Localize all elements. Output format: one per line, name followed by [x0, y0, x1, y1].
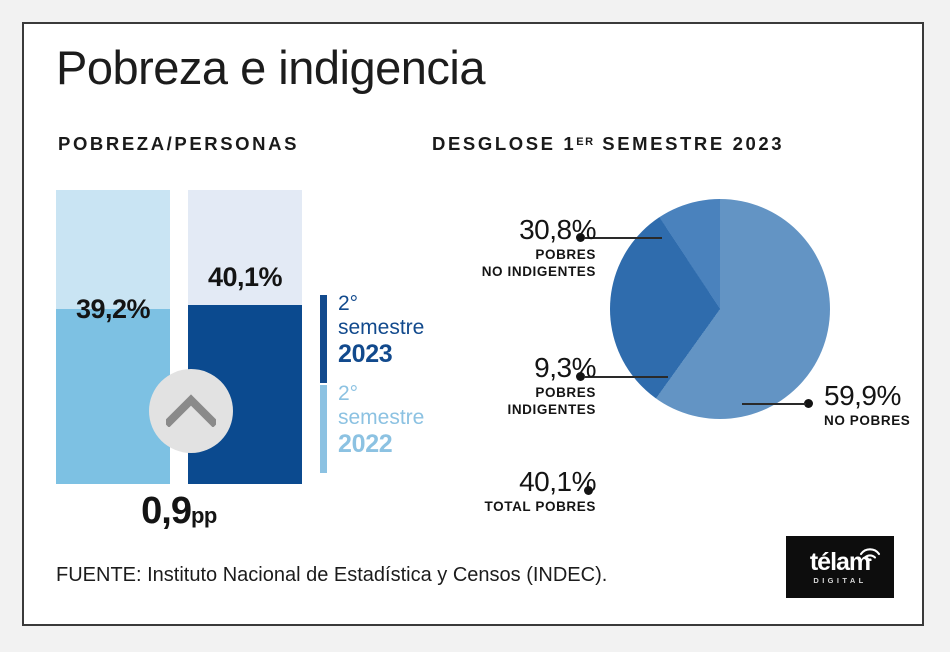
callout-no-pobres: 59,9% NO POBRES	[824, 380, 950, 429]
bar-legend: 2° semestre 2023 2° semestre 2022	[320, 292, 424, 473]
pobres-indigentes-label-1: POBRES	[464, 384, 596, 401]
desglose-heading-ordinal: ER	[576, 136, 594, 148]
bar-2022-ghost	[56, 190, 170, 309]
pobres-no-indigentes-pct: 30,8%	[464, 214, 596, 246]
legend-rule-2023	[320, 295, 327, 383]
callout-pobres-indigentes: 9,3% POBRES INDIGENTES	[464, 352, 596, 419]
legend-2022-year: 2022	[338, 430, 424, 459]
chevron-up-icon	[166, 393, 216, 427]
legend-2022-line2: semestre	[338, 406, 424, 430]
infographic-card: Pobreza e indigencia POBREZA/PERSONAS DE…	[22, 22, 924, 626]
total-pobres-pct: 40,1%	[464, 466, 596, 498]
bar-2022	[56, 190, 170, 484]
bar-2022-value: 39,2%	[56, 294, 170, 325]
legend-2023-line2: semestre	[338, 316, 424, 340]
telam-subtitle: DIGITAL	[786, 576, 894, 585]
pie-chart	[610, 199, 830, 419]
legend-2022-line1: 2°	[338, 382, 424, 406]
telam-logo: télam DIGITAL	[786, 536, 894, 598]
no-pobres-pct: 59,9%	[824, 380, 950, 412]
legend-rule-2022	[320, 385, 327, 473]
callout-pobres-no-indigentes: 30,8% POBRES NO INDIGENTES	[464, 214, 596, 281]
bar-chart: 39,2% 40,1% 0,9pp 2° semestre 2023 2° se…	[24, 24, 454, 628]
pobres-indigentes-label-2: INDIGENTES	[464, 401, 596, 418]
pobres-no-indigentes-label-2: NO INDIGENTES	[464, 263, 596, 280]
trend-badge	[149, 369, 233, 453]
delta-value: 0,9pp	[56, 490, 302, 533]
bar-2023-value: 40,1%	[188, 262, 302, 293]
legend-2023-year: 2023	[338, 340, 424, 369]
pobres-indigentes-pct: 9,3%	[464, 352, 596, 384]
desglose-heading-tail: SEMESTRE 2023	[595, 133, 785, 154]
legend-item-2023: 2° semestre 2023	[320, 292, 424, 368]
callout-line-no-pobres	[742, 403, 806, 405]
no-pobres-label: NO POBRES	[824, 412, 950, 429]
section-heading-desglose: DESGLOSE 1ER SEMESTRE 2023	[432, 133, 784, 155]
pobres-no-indigentes-label-1: POBRES	[464, 246, 596, 263]
delta-unit: pp	[191, 503, 217, 528]
legend-2023-line1: 2°	[338, 292, 424, 316]
callout-total-pobres: 40,1% TOTAL POBRES	[464, 466, 596, 515]
total-pobres-label: TOTAL POBRES	[464, 498, 596, 515]
wifi-signal-icon	[859, 545, 881, 561]
legend-item-2022: 2° semestre 2022	[320, 382, 424, 458]
callout-line-pobres-indigentes	[584, 376, 668, 378]
delta-number: 0,9	[141, 490, 191, 532]
source-note: FUENTE: Instituto Nacional de Estadístic…	[56, 564, 607, 587]
